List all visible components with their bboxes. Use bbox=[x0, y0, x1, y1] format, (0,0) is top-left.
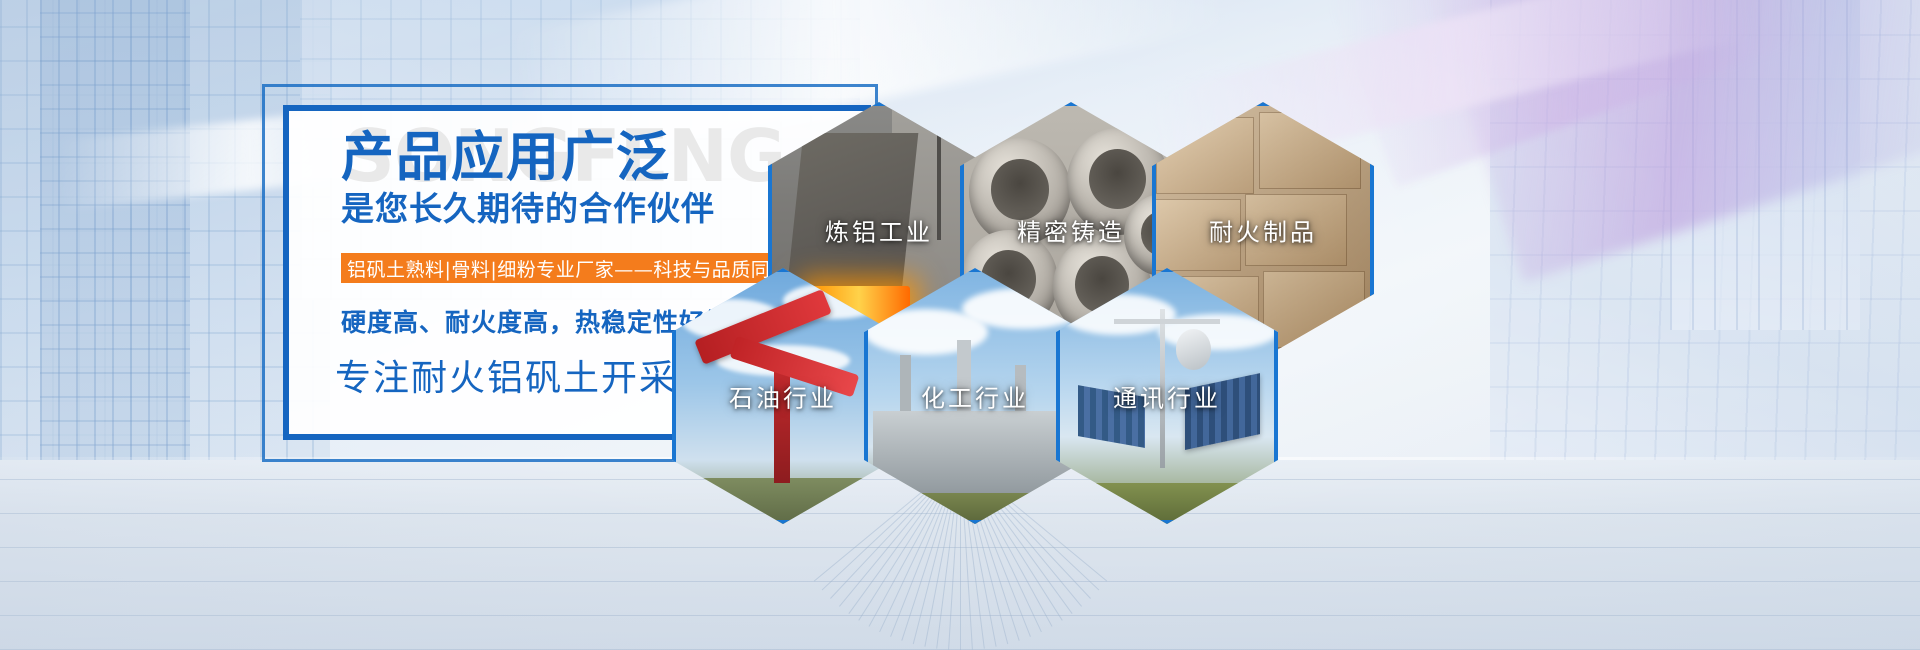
headline-text: 产品应用广泛 bbox=[341, 131, 671, 184]
subheadline-text: 是您长久期待的合作伙伴 bbox=[341, 192, 715, 225]
industry-hex-grid: 炼铝工业 精密铸造 耐火制品 石油行业 bbox=[660, 80, 1360, 560]
promo-banner: SONGFENG 产品应用广泛 是您长久期待的合作伙伴 铝矾土熟料|骨料|细粉专… bbox=[0, 0, 1920, 650]
